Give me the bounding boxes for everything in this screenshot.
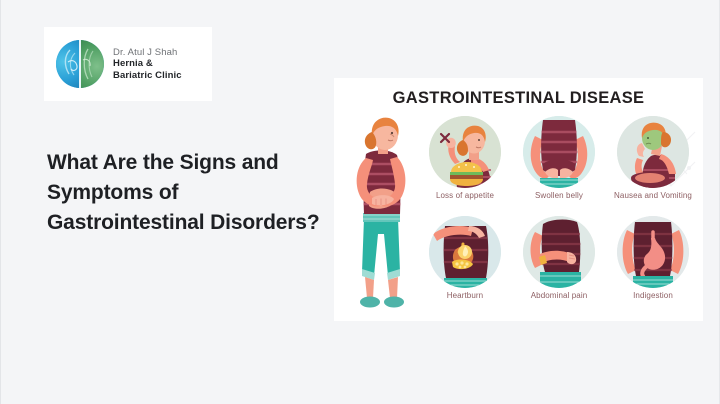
gastrointestinal-disease-infographic: GASTROINTESTINAL DISEASE xyxy=(334,78,703,321)
slide-canvas: Dr. Atul J Shah Hernia & Bariatric Clini… xyxy=(0,0,720,404)
doctor-name: Dr. Atul J Shah xyxy=(113,47,182,58)
symptom-abdominal-pain[interactable]: Abdominal pain xyxy=(512,216,606,316)
symptom-label: Indigestion xyxy=(606,291,700,300)
nausea-vomiting-icon xyxy=(617,116,689,188)
woman-refusing-burger-icon xyxy=(429,116,501,188)
symptom-heartburn[interactable]: Heartburn xyxy=(418,216,512,316)
clinic-name-line-1: Hernia & xyxy=(113,58,182,69)
woman-holding-stomach-illustration xyxy=(342,114,420,312)
symptom-label: Abdominal pain xyxy=(512,291,606,300)
symptom-row-bottom: Heartburn xyxy=(418,216,700,316)
clinic-name-line-2: Bariatric Clinic xyxy=(113,70,182,81)
indigestion-stomach-organ-icon xyxy=(617,216,689,288)
symptom-label: Loss of appetite xyxy=(418,191,512,200)
heartburn-stomach-flame-icon xyxy=(429,216,501,288)
split-circle-logo-icon xyxy=(56,40,104,88)
symptom-label: Heartburn xyxy=(418,291,512,300)
infographic-title: GASTROINTESTINAL DISEASE xyxy=(334,89,703,108)
swollen-belly-torso-icon xyxy=(523,116,595,188)
symptom-label: Nausea and Vomiting xyxy=(606,191,700,200)
abdominal-pain-clutching-icon xyxy=(523,216,595,288)
symptom-row-top: Loss of appetite xyxy=(418,116,700,216)
symptom-nausea-and-vomiting[interactable]: Nausea and Vomiting xyxy=(606,116,700,216)
clinic-logo-card[interactable]: Dr. Atul J Shah Hernia & Bariatric Clini… xyxy=(44,27,212,101)
symptom-grid: Loss of appetite xyxy=(418,116,700,316)
page-title: What Are the Signs and Symptoms of Gastr… xyxy=(47,148,333,237)
clinic-logo-text: Dr. Atul J Shah Hernia & Bariatric Clini… xyxy=(113,47,182,81)
symptom-swollen-belly[interactable]: Swollen belly xyxy=(512,116,606,216)
symptom-loss-of-appetite[interactable]: Loss of appetite xyxy=(418,116,512,216)
symptom-label: Swollen belly xyxy=(512,191,606,200)
symptom-indigestion[interactable]: Indigestion xyxy=(606,216,700,316)
logo-center-divider xyxy=(79,40,81,88)
